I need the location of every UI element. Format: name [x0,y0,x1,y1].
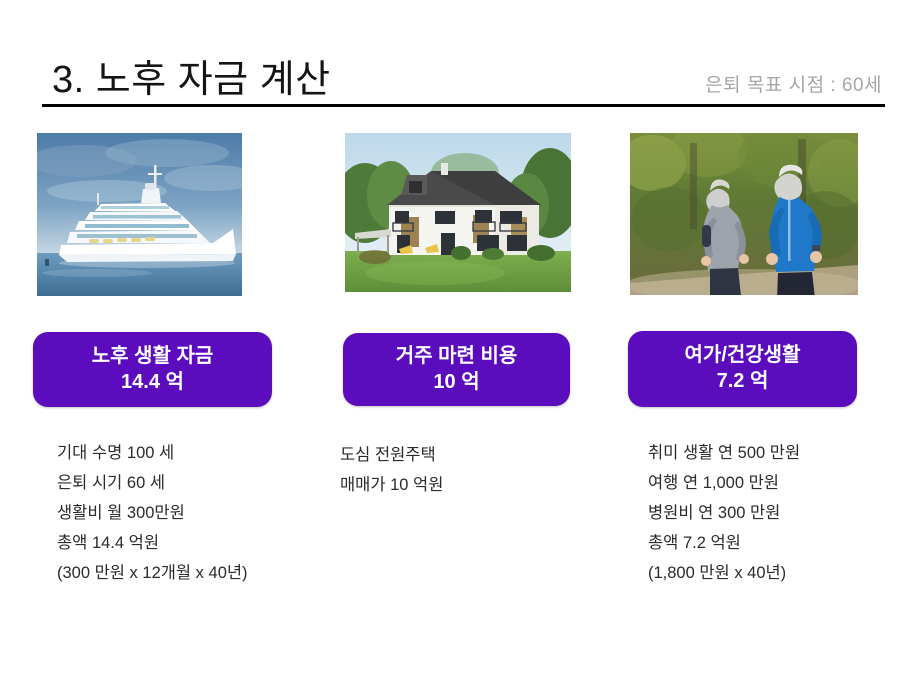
detail-line: 생활비 월 300만원 [57,498,248,528]
column-retirement-living-fund [37,133,242,296]
detail-line: 취미 생활 연 500 만원 [648,438,800,468]
details-housing-cost: 도심 전원주택 매매가 10 억원 [340,440,443,500]
badge-leisure-health[interactable]: 여가/건강생활 7.2 억 [628,331,857,407]
detail-line: (1,800 만원 x 40년) [648,558,800,588]
detail-line: 여행 연 1,000 만원 [648,468,800,498]
retirement-target-note: 은퇴 목표 시점 : 60세 [705,70,882,97]
detail-line: 은퇴 시기 60 세 [57,468,248,498]
badge-title: 여가/건강생활 [685,343,801,369]
cruise-ship-illustration [37,133,242,296]
suburban-house-photo [345,133,571,292]
house-illustration [345,133,571,292]
badge-amount: 10 억 [433,370,479,396]
badge-title: 거주 마련 비용 [396,344,518,370]
detail-line: 도심 전원주택 [340,440,443,470]
senior-couple-jogging-photo [630,133,858,295]
detail-line: 총액 14.4 억원 [57,528,248,558]
page-title: 3. 노후 자금 계산 [52,48,331,103]
detail-line: 매매가 10 억원 [340,470,443,500]
detail-line: 기대 수명 100 세 [57,438,248,468]
details-leisure-health: 취미 생활 연 500 만원 여행 연 1,000 만원 병원비 연 300 만… [648,438,800,588]
title-divider [42,104,885,107]
badge-amount: 14.4 억 [121,370,184,396]
badge-title: 노후 생활 자금 [92,344,214,370]
detail-line: 총액 7.2 억원 [648,528,800,558]
cruise-ship-photo [37,133,242,296]
column-leisure-health [630,133,858,295]
detail-line: (300 만원 x 12개월 x 40년) [57,558,248,588]
detail-line: 병원비 연 300 만원 [648,498,800,528]
badge-housing-cost[interactable]: 거주 마련 비용 10 억 [343,333,570,406]
badge-amount: 7.2 억 [717,369,769,395]
column-housing-cost [345,133,571,292]
jogging-couple-illustration [630,133,858,295]
details-retirement-living-fund: 기대 수명 100 세 은퇴 시기 60 세 생활비 월 300만원 총액 14… [57,438,248,588]
slide-root: 3. 노후 자금 계산 은퇴 목표 시점 : 60세 [0,0,912,684]
badge-retirement-living-fund[interactable]: 노후 생활 자금 14.4 억 [33,332,272,407]
